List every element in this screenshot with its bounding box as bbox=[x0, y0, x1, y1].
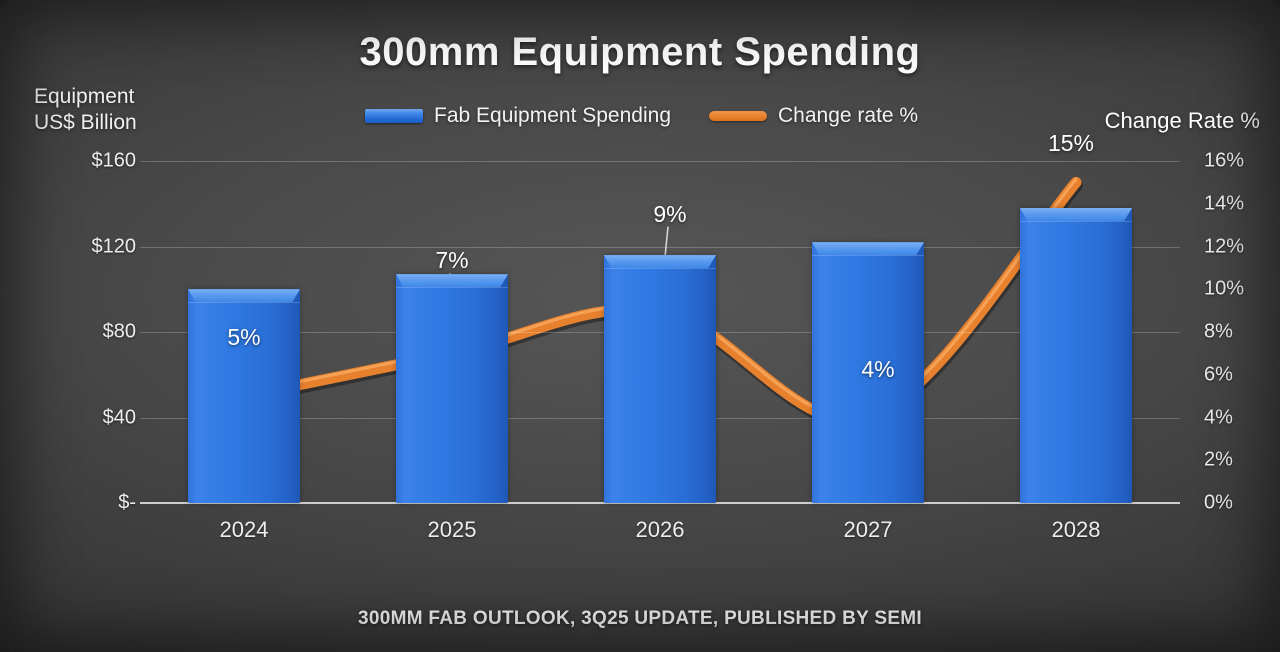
data-label-2026: 9% bbox=[653, 201, 686, 228]
legend-item-fab-equipment-spending[interactable]: Fab Equipment Spending bbox=[365, 104, 671, 128]
bar-cap bbox=[396, 274, 508, 287]
bar-cap-line bbox=[396, 287, 508, 288]
x-axis-tick-2024: 2024 bbox=[220, 517, 269, 543]
bar-cap-line bbox=[604, 268, 716, 269]
bar-2024[interactable] bbox=[188, 289, 300, 503]
y-axis-right-tick: 12% bbox=[1204, 235, 1244, 258]
bar-cap bbox=[1020, 208, 1132, 221]
bar-cap-line bbox=[188, 302, 300, 303]
chart-container: 300mm Equipment Spending Equipment US$ B… bbox=[0, 0, 1280, 652]
bar-2026[interactable] bbox=[604, 255, 716, 503]
y-axis-right-tick: 4% bbox=[1204, 406, 1233, 429]
y-axis-left-tick: $120 bbox=[92, 235, 137, 258]
bar-cap-line bbox=[812, 255, 924, 256]
y-axis-left-tick: $80 bbox=[103, 321, 136, 344]
left-axis-title-line2: US$ Billion bbox=[34, 110, 137, 136]
data-label-2027: 4% bbox=[861, 356, 894, 383]
y-axis-left-tick: $160 bbox=[92, 150, 137, 173]
chart-legend: Fab Equipment Spending Change rate % bbox=[365, 104, 918, 128]
bar-cap bbox=[812, 242, 924, 255]
legend-item-change-rate[interactable]: Change rate % bbox=[709, 104, 918, 128]
x-axis-tick-2027: 2027 bbox=[844, 517, 893, 543]
plot-area: $-$40$80$120$1600%2%4%6%8%10%12%14%16%20… bbox=[140, 161, 1180, 503]
y-axis-right-tick: 6% bbox=[1204, 363, 1233, 386]
bar-cap-line bbox=[1020, 221, 1132, 222]
y-axis-right-tick: 0% bbox=[1204, 492, 1233, 515]
chart-title: 300mm Equipment Spending bbox=[0, 30, 1280, 75]
y-axis-right-tick: 14% bbox=[1204, 192, 1244, 215]
left-axis-title-line1: Equipment bbox=[34, 84, 137, 110]
legend-label-fab-equipment-spending: Fab Equipment Spending bbox=[434, 104, 671, 128]
bar-2028[interactable] bbox=[1020, 208, 1132, 503]
left-axis-title: Equipment US$ Billion bbox=[34, 84, 137, 136]
bar-2025[interactable] bbox=[396, 274, 508, 503]
data-label-2025: 7% bbox=[435, 247, 468, 274]
bar-swatch-icon bbox=[365, 109, 423, 123]
bar-cap bbox=[604, 255, 716, 268]
y-axis-right-tick: 10% bbox=[1204, 278, 1244, 301]
y-axis-left-tick: $- bbox=[118, 492, 136, 515]
data-label-2024: 5% bbox=[227, 324, 260, 351]
line-swatch-icon bbox=[709, 111, 767, 121]
y-axis-right-tick: 8% bbox=[1204, 321, 1233, 344]
legend-label-change-rate: Change rate % bbox=[778, 104, 918, 128]
x-axis-tick-2025: 2025 bbox=[428, 517, 477, 543]
y-axis-left-tick: $40 bbox=[103, 406, 136, 429]
x-axis-tick-2026: 2026 bbox=[636, 517, 685, 543]
right-axis-title: Change Rate % bbox=[1105, 108, 1260, 134]
footer-note: 300MM FAB OUTLOOK, 3Q25 UPDATE, PUBLISHE… bbox=[0, 608, 1280, 630]
x-axis-tick-2028: 2028 bbox=[1052, 517, 1101, 543]
bar-cap bbox=[188, 289, 300, 302]
data-label-2028: 15% bbox=[1048, 130, 1094, 157]
y-axis-right-tick: 2% bbox=[1204, 449, 1233, 472]
gridline bbox=[140, 161, 1180, 162]
y-axis-right-tick: 16% bbox=[1204, 150, 1244, 173]
